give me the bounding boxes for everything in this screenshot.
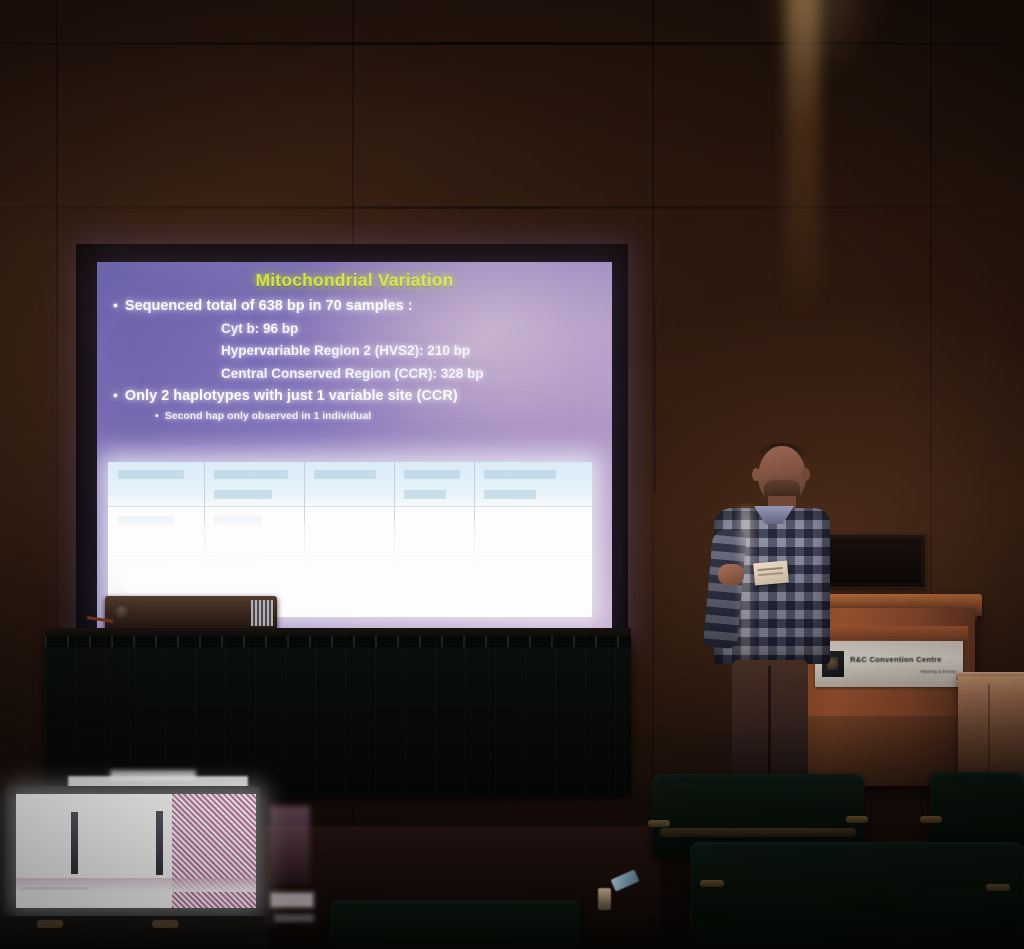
- slide-data-table: [108, 462, 592, 617]
- slide-sub-bullet: Central Conserved Region (CCR): 328 bp: [221, 364, 602, 384]
- chair-arm-cap: [648, 820, 670, 827]
- table-cell: [118, 470, 184, 479]
- presenter-laptop[interactable]: [2, 786, 264, 949]
- laptop-lid: [6, 786, 260, 920]
- venue-subtitle: Meeting & Events: [850, 669, 956, 674]
- photo-scene: Mitochondrial Variation Sequenced total …: [0, 0, 1024, 949]
- slide-sub-bullet: Cyt b: 96 bp: [221, 319, 602, 339]
- laptop-screen-bloom: [110, 770, 196, 780]
- venue-sign-text: R&C Convention Centre Meeting & Events: [850, 655, 956, 674]
- table-cell: [214, 470, 288, 479]
- podium-monitor: [822, 534, 926, 588]
- table-header-row: [108, 462, 592, 506]
- auditorium-chair: [330, 900, 580, 949]
- laptop-screen-footer: [16, 878, 256, 892]
- presenter: [710, 446, 832, 786]
- draped-side-table: [958, 676, 1024, 782]
- laptop-screen[interactable]: [16, 794, 256, 908]
- laptop-screen-bar: [156, 811, 163, 875]
- chair-arm-cap: [920, 816, 942, 823]
- slide-nested-bullet: Second hap only observed in 1 individual: [155, 409, 602, 424]
- chair-arm-cap: [986, 884, 1010, 891]
- presenter-ear: [752, 468, 760, 481]
- chair-arm-cap: [700, 880, 724, 887]
- laptop-side-bloom: [270, 892, 314, 908]
- auditorium-chair: [690, 842, 1024, 949]
- laptop-hinge: [36, 920, 63, 928]
- drape-fold: [988, 684, 990, 778]
- table-row-divider: [108, 506, 592, 507]
- projector-vent: [251, 600, 273, 626]
- presenter-legs: [732, 660, 808, 786]
- slide-bullet-list: Sequenced total of 638 bp in 70 samples …: [113, 296, 602, 423]
- slide-bullet: Sequenced total of 638 bp in 70 samples …: [113, 296, 602, 316]
- drink-cup: [598, 888, 611, 910]
- laptop-hinge: [152, 920, 179, 928]
- projector-lens-icon: [115, 605, 131, 619]
- presenter-ear: [802, 468, 810, 481]
- table-cell: [404, 470, 460, 479]
- projector: [105, 596, 277, 630]
- table-cell: [484, 490, 536, 499]
- laptop-side-bloom: [274, 914, 314, 922]
- projection-screen: Mitochondrial Variation Sequenced total …: [97, 262, 612, 637]
- venue-name: R&C Convention Centre: [850, 655, 956, 664]
- auditorium-chair: [930, 772, 1024, 852]
- wall-seam-horizontal: [0, 42, 1024, 45]
- chair-arm-cap: [846, 816, 868, 823]
- screen-cord: [654, 300, 656, 492]
- laptop-side-bloom: [270, 806, 310, 884]
- laptop-screen-bar: [71, 812, 78, 874]
- rim-light: [740, 508, 752, 668]
- table-cell: [484, 470, 556, 479]
- table-cell: [404, 490, 446, 499]
- slide-sub-bullet: Hypervariable Region 2 (HVS2): 210 bp: [221, 341, 602, 361]
- laptop-keyboard-base[interactable]: [0, 916, 270, 949]
- venue-sign: R&C Convention Centre Meeting & Events: [815, 641, 963, 687]
- wall-seam-horizontal: [0, 206, 1024, 209]
- slide-bullet: Only 2 haplotypes with just 1 variable s…: [113, 386, 602, 406]
- table-cell: [214, 490, 272, 499]
- name-badge: [753, 561, 789, 586]
- slide-title: Mitochondrial Variation: [97, 270, 612, 291]
- chair-arm-rail: [660, 828, 856, 837]
- table-cell: [314, 470, 376, 479]
- leg-separation: [768, 666, 771, 784]
- presenter-hand: [718, 564, 744, 586]
